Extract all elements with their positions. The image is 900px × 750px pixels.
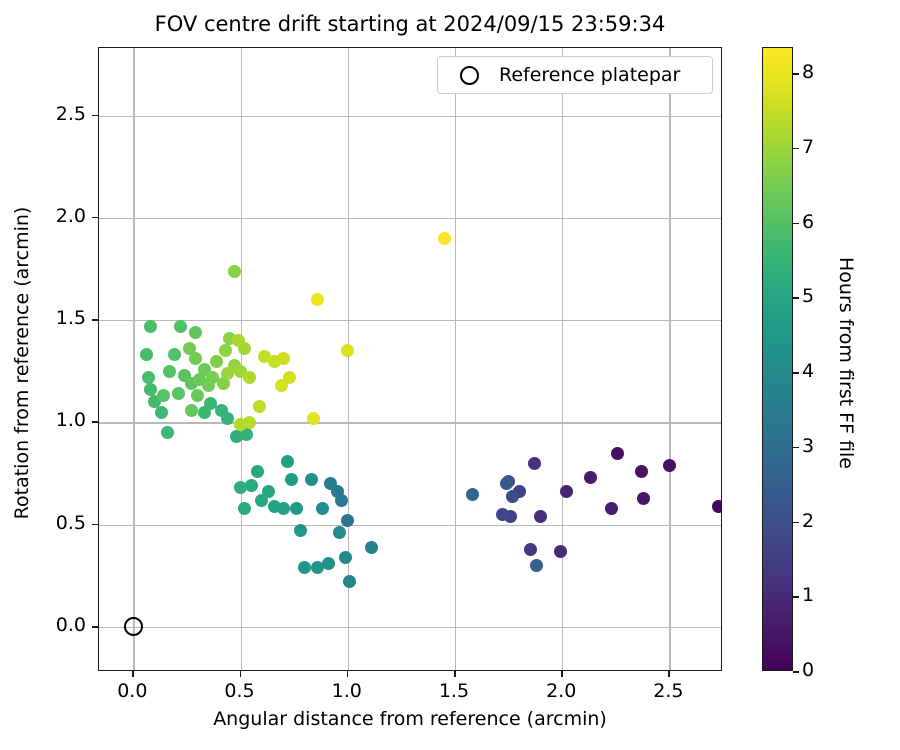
scatter-point xyxy=(172,387,185,400)
y-axis-tick xyxy=(92,217,98,219)
x-axis-tick xyxy=(454,671,456,677)
gridline-vertical xyxy=(241,48,242,670)
scatter-point xyxy=(663,459,676,472)
gridline-vertical xyxy=(133,48,134,670)
y-axis-tick xyxy=(92,524,98,526)
colorbar-tick xyxy=(793,447,799,449)
scatter-point xyxy=(191,389,204,402)
scatter-point xyxy=(255,494,268,507)
colorbar-tick-label: 0 xyxy=(802,659,814,681)
legend-open-circle-icon xyxy=(460,66,479,85)
gridline-vertical xyxy=(455,48,456,670)
x-axis-label: Angular distance from reference (arcmin) xyxy=(98,708,722,730)
x-axis-tick-label: 1.5 xyxy=(424,680,484,702)
scatter-point xyxy=(506,490,519,503)
scatter-point xyxy=(341,344,354,357)
colorbar-tick-label: 1 xyxy=(802,584,814,606)
colorbar-tick xyxy=(793,671,799,673)
y-axis-tick xyxy=(92,421,98,423)
scatter-point xyxy=(243,371,256,384)
scatter-point xyxy=(142,371,155,384)
reference-platepar-marker xyxy=(124,617,143,636)
scatter-point xyxy=(554,545,567,558)
x-axis-tick-label: 1.0 xyxy=(317,680,377,702)
y-axis-tick xyxy=(92,626,98,628)
gridline-horizontal xyxy=(99,627,721,628)
scatter-point xyxy=(438,232,451,245)
colorbar-tick-label: 3 xyxy=(802,435,814,457)
scatter-point xyxy=(185,404,198,417)
scatter-point xyxy=(183,342,196,355)
scatter-point xyxy=(294,524,307,537)
scatter-point xyxy=(228,265,241,278)
scatter-point xyxy=(524,543,537,556)
y-axis-tick xyxy=(92,115,98,117)
scatter-point xyxy=(605,502,618,515)
scatter-point xyxy=(243,416,256,429)
scatter-point xyxy=(277,352,290,365)
colorbar-tick xyxy=(793,148,799,150)
y-axis-label: Rotation from reference (arcmin) xyxy=(11,51,33,675)
scatter-point xyxy=(174,320,187,333)
scatter-point xyxy=(637,492,650,505)
colorbar-tick-label: 8 xyxy=(802,61,814,83)
x-axis-tick-label: 0.5 xyxy=(210,680,270,702)
x-axis-tick xyxy=(668,671,670,677)
colorbar-gradient xyxy=(763,48,792,670)
scatter-point xyxy=(168,348,181,361)
gridline-vertical xyxy=(562,48,563,670)
scatter-point xyxy=(466,488,479,501)
scatter-point xyxy=(712,500,722,513)
colorbar-label: Hours from first FF file xyxy=(835,51,857,675)
gridline-horizontal xyxy=(99,320,721,321)
scatter-point xyxy=(198,406,211,419)
colorbar-tick xyxy=(793,372,799,374)
scatter-point xyxy=(232,334,245,347)
colorbar-tick xyxy=(793,297,799,299)
colorbar-tick xyxy=(793,596,799,598)
scatter-point xyxy=(144,383,157,396)
scatter-point xyxy=(251,465,264,478)
scatter-point xyxy=(189,326,202,339)
colorbar-tick xyxy=(793,73,799,75)
scatter-point xyxy=(560,485,573,498)
scatter-point xyxy=(365,541,378,554)
x-axis-tick xyxy=(240,671,242,677)
scatter-point xyxy=(275,379,288,392)
legend-item-label: Reference platepar xyxy=(499,64,680,86)
scatter-point xyxy=(316,502,329,515)
scatter-point xyxy=(298,561,311,574)
y-axis-tick xyxy=(92,319,98,321)
scatter-point xyxy=(500,477,513,490)
gridline-vertical xyxy=(669,48,670,670)
scatter-point xyxy=(307,412,320,425)
x-axis-tick xyxy=(132,671,134,677)
scatter-point xyxy=(144,320,157,333)
scatter-point xyxy=(333,526,346,539)
scatter-point xyxy=(305,473,318,486)
colorbar-tick-label: 4 xyxy=(802,360,814,382)
figure-canvas: FOV centre drift starting at 2024/09/15 … xyxy=(0,0,900,750)
scatter-point xyxy=(253,400,266,413)
gridline-horizontal xyxy=(99,218,721,219)
scatter-point xyxy=(584,471,597,484)
scatter-point xyxy=(311,561,324,574)
scatter-point xyxy=(285,473,298,486)
scatter-point xyxy=(163,365,176,378)
scatter-point xyxy=(281,455,294,468)
colorbar-tick-label: 7 xyxy=(802,136,814,158)
scatter-point xyxy=(234,481,247,494)
scatter-point xyxy=(238,502,251,515)
colorbar-tick-label: 5 xyxy=(802,285,814,307)
colorbar-tick xyxy=(793,522,799,524)
scatter-point xyxy=(530,559,543,572)
x-axis-tick-label: 2.5 xyxy=(638,680,698,702)
x-axis-tick-label: 0.0 xyxy=(102,680,162,702)
colorbar-tick-label: 6 xyxy=(802,211,814,233)
scatter-point xyxy=(157,389,170,402)
legend: Reference platepar xyxy=(437,56,713,94)
scatter-point xyxy=(496,508,509,521)
colorbar xyxy=(762,47,793,671)
scatter-point xyxy=(311,293,324,306)
gridline-horizontal xyxy=(99,525,721,526)
scatter-point xyxy=(611,447,624,460)
scatter-point xyxy=(635,465,648,478)
scatter-point xyxy=(219,344,232,357)
page-title: FOV centre drift starting at 2024/09/15 … xyxy=(0,12,820,36)
scatter-point xyxy=(534,510,547,523)
scatter-point xyxy=(140,348,153,361)
colorbar-tick-label: 2 xyxy=(802,510,814,532)
x-axis-tick-label: 2.0 xyxy=(531,680,591,702)
gridline-horizontal xyxy=(99,422,721,423)
colorbar-tick xyxy=(793,223,799,225)
x-axis-tick xyxy=(561,671,563,677)
scatter-point xyxy=(161,426,174,439)
scatter-point xyxy=(221,367,234,380)
gridline-horizontal xyxy=(99,116,721,117)
scatter-point xyxy=(339,551,352,564)
x-axis-tick xyxy=(347,671,349,677)
scatter-point xyxy=(343,575,356,588)
scatter-point xyxy=(290,502,303,515)
scatter-point xyxy=(528,457,541,470)
plot-area xyxy=(98,47,722,671)
scatter-point xyxy=(210,355,223,368)
